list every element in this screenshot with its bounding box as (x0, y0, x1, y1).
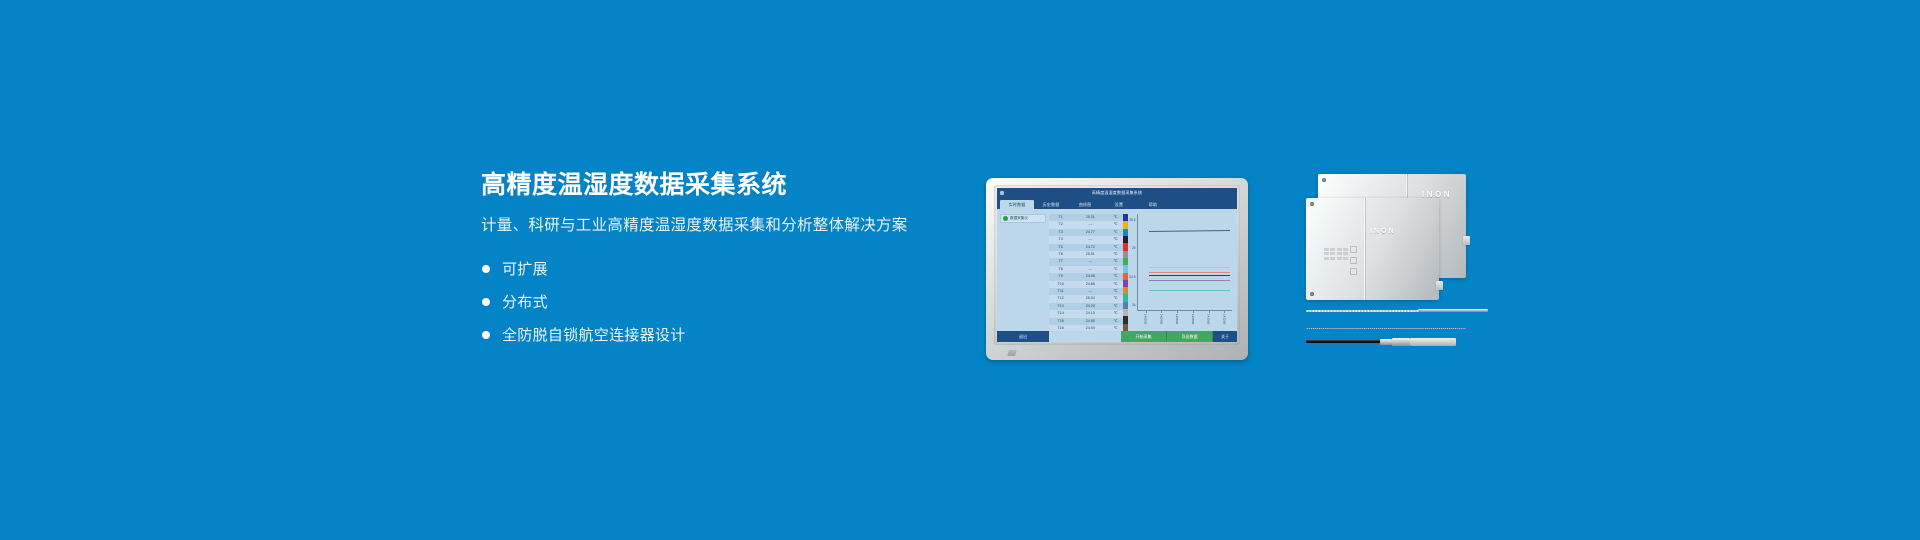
cell-unit: ℃ (1108, 310, 1123, 317)
cell-channel: T7 (1049, 258, 1072, 265)
cell-channel: T5 (1049, 244, 1072, 251)
feature-list: 可扩展 分布式 全防脱自锁航空连接器设计 (481, 254, 951, 349)
table-row[interactable]: T11---℃ (1049, 288, 1123, 295)
table-row[interactable]: T1225.04℃ (1049, 295, 1123, 302)
table-row[interactable]: T125.31℃ (1049, 214, 1123, 221)
cell-channel: T14 (1049, 310, 1072, 317)
table-row[interactable]: T524.72℃ (1049, 244, 1123, 251)
chart-y-tick-label: 24.5 (1129, 275, 1135, 279)
chart-series-line (1149, 275, 1230, 276)
chart-series-line (1149, 267, 1230, 268)
cell-channel: T11 (1049, 288, 1072, 295)
tab-help[interactable]: 帮助 (1136, 200, 1170, 209)
chart-plot-area (1138, 214, 1232, 311)
monitor-inner-bezel: 高精度温湿度数据采集系统 实时数据 历史数据 曲线图 设置 帮助 (994, 185, 1240, 345)
cell-unit: ℃ (1108, 244, 1123, 251)
cell-value: --- (1072, 266, 1108, 273)
channel-data-table: T125.31℃T2---℃T324.77℃T4---℃T524.72℃T625… (1049, 214, 1123, 333)
cell-unit: ℃ (1108, 281, 1123, 288)
feature-label: 全防脱自锁航空连接器设计 (502, 324, 686, 345)
cell-value: 24.88 (1072, 281, 1108, 288)
cell-channel: T1 (1049, 214, 1072, 221)
start-acquisition-button[interactable]: 开始采集 (1121, 331, 1167, 342)
cell-value: --- (1072, 258, 1108, 265)
table-row[interactable]: T2---℃ (1049, 221, 1123, 228)
cell-value: --- (1072, 288, 1108, 295)
cell-channel: T12 (1049, 295, 1072, 302)
chart-series-line (1149, 230, 1230, 232)
cell-channel: T2 (1049, 221, 1072, 228)
table-row[interactable]: T324.77℃ (1049, 229, 1123, 236)
cell-value: --- (1072, 236, 1108, 243)
chart-x-tick-label: 14:06:00 (1175, 314, 1179, 324)
chart-x-tick (1177, 311, 1178, 313)
connector-port-column (1350, 246, 1357, 275)
page-title: 高精度温湿度数据采集系统 (481, 172, 951, 200)
cell-value: 25.01 (1072, 251, 1108, 258)
table-row[interactable]: T625.01℃ (1049, 251, 1123, 258)
table-row[interactable]: T7---℃ (1049, 258, 1123, 265)
chart-y-axis: 25.52524.524 (1128, 214, 1138, 311)
page-subtitle: 计量、科研与工业高精度温湿度数据采集和分析整体解决方案 (481, 217, 951, 236)
screw-icon (1310, 292, 1314, 296)
cell-unit: ℃ (1108, 221, 1123, 228)
cell-channel: T6 (1049, 251, 1072, 258)
bullet-dot-icon (482, 265, 490, 273)
cell-unit: ℃ (1108, 266, 1123, 273)
footer-spacer (1049, 331, 1121, 342)
export-data-button[interactable]: 导出数据 (1167, 331, 1213, 342)
cell-value: 25.04 (1072, 295, 1108, 302)
status-online-icon (1003, 216, 1008, 221)
table-row[interactable]: T8---℃ (1049, 266, 1123, 273)
about-button[interactable]: 关于 (1213, 331, 1237, 342)
black-cable-sintered-probe (1306, 336, 1492, 348)
cell-unit: ℃ (1108, 251, 1123, 258)
chart-x-tick (1209, 311, 1210, 313)
tab-realtime-data[interactable]: 实时数据 (1000, 200, 1034, 209)
app-tab-bar: 实时数据 历史数据 曲线图 设置 帮助 (997, 198, 1237, 209)
banner-text-block: 高精度温湿度数据采集系统 计量、科研与工业高精度温湿度数据采集和分析整体解决方案… (481, 172, 951, 353)
product-banner: 高精度温湿度数据采集系统 计量、科研与工业高精度温湿度数据采集和分析整体解决方案… (0, 0, 1920, 540)
cell-value: 24.90 (1072, 318, 1108, 325)
cell-value: 25.31 (1072, 214, 1108, 221)
cell-channel: T13 (1049, 303, 1072, 310)
tab-history-data[interactable]: 历史数据 (1034, 200, 1068, 209)
chart-y-tick-label: 25.5 (1129, 218, 1135, 222)
chart-x-tick (1193, 311, 1194, 313)
feature-label: 可扩展 (502, 258, 548, 279)
chart-series-line (1149, 280, 1230, 281)
panel-pc-monitor: 高精度温湿度数据采集系统 实时数据 历史数据 曲线图 设置 帮助 (986, 178, 1248, 360)
terminal-label-grid (1324, 248, 1348, 260)
cell-channel: T8 (1049, 266, 1072, 273)
cell-value: 24.98 (1072, 273, 1108, 280)
cell-value: 24.72 (1072, 244, 1108, 251)
chart-x-tick (1146, 311, 1147, 313)
cell-unit: ℃ (1108, 303, 1123, 310)
cable-gland-icon (1436, 281, 1443, 290)
table-row[interactable]: T1024.88℃ (1049, 281, 1123, 288)
feature-label: 分布式 (502, 291, 548, 312)
device-node-label: 数据采集仪 (1010, 216, 1028, 221)
list-item: 全防脱自锁航空连接器设计 (481, 320, 951, 349)
chart-x-tick-label: 14:04:00 (1159, 314, 1163, 324)
device-tree-node[interactable]: 数据采集仪 (1000, 214, 1046, 223)
cell-unit: ℃ (1108, 288, 1123, 295)
cell-unit: ℃ (1108, 273, 1123, 280)
table-row[interactable]: T924.98℃ (1049, 273, 1123, 280)
cell-unit: ℃ (1108, 214, 1123, 221)
trend-chart: 25.52524.524 14:02:0014:04:0014:06:0014:… (1128, 209, 1237, 331)
screw-icon (1322, 178, 1326, 182)
cell-unit: ℃ (1108, 229, 1123, 236)
bullet-dot-icon (482, 298, 490, 306)
app-footer-bar: 退出 开始采集 导出数据 关于 (997, 331, 1237, 342)
chart-series-line (1149, 290, 1230, 291)
cell-channel: T4 (1049, 236, 1072, 243)
blue-cable-probe (1306, 326, 1492, 331)
app-title: 高精度温湿度数据采集系统 (997, 188, 1237, 198)
screw-icon (1310, 202, 1314, 206)
chart-x-tick-label: 14:10:00 (1207, 314, 1211, 324)
list-item: 可扩展 (481, 254, 951, 283)
chart-x-tick-label: 14:12:00 (1222, 314, 1226, 324)
cell-channel: T15 (1049, 318, 1072, 325)
tab-curve-chart[interactable]: 曲线图 (1068, 200, 1102, 209)
tab-settings[interactable]: 设置 (1102, 200, 1136, 209)
monitor-screen: 高精度温湿度数据采集系统 实时数据 历史数据 曲线图 设置 帮助 (997, 188, 1237, 342)
chart-series-line (1149, 272, 1230, 273)
cable-gland-icon (1463, 236, 1470, 245)
cell-channel: T9 (1049, 273, 1072, 280)
braided-stainless-probe (1306, 308, 1492, 314)
table-row[interactable]: T4---℃ (1049, 236, 1123, 243)
channel-table-body: T125.31℃T2---℃T324.77℃T4---℃T524.72℃T625… (1049, 214, 1123, 333)
chart-x-tick (1161, 311, 1162, 313)
hardware-group: INON INON (1306, 170, 1492, 360)
chart-y-tick-label: 25 (1132, 246, 1136, 250)
list-item: 分布式 (481, 287, 951, 316)
monitor-bezel: 高精度温湿度数据采集系统 实时数据 历史数据 曲线图 设置 帮助 (986, 178, 1248, 360)
monitor-stand-foot (1007, 350, 1016, 356)
cell-channel: T3 (1049, 229, 1072, 236)
app-body: 数据采集仪 T125.31℃T2---℃T324.77℃T4---℃T524.7… (997, 209, 1237, 331)
cell-value: 24.15 (1072, 310, 1108, 317)
cell-unit: ℃ (1108, 236, 1123, 243)
cell-unit: ℃ (1108, 258, 1123, 265)
channel-table-wrap: T125.31℃T2---℃T324.77℃T4---℃T524.72℃T625… (1049, 209, 1123, 331)
chart-x-tick-label: 14:08:00 (1191, 314, 1195, 324)
bullet-dot-icon (482, 331, 490, 339)
cell-unit: ℃ (1108, 318, 1123, 325)
table-row[interactable]: T1424.15℃ (1049, 310, 1123, 317)
brand-logo-front: INON (1370, 228, 1396, 235)
chart-x-tick-label: 14:02:00 (1144, 314, 1148, 324)
table-row[interactable]: T1324.29℃ (1049, 303, 1123, 310)
cell-channel: T10 (1049, 281, 1072, 288)
chart-y-tick-label: 24 (1132, 303, 1136, 307)
cell-unit: ℃ (1108, 295, 1123, 302)
cell-value: --- (1072, 221, 1108, 228)
chart-x-tick (1224, 311, 1225, 313)
table-row[interactable]: T1524.90℃ (1049, 318, 1123, 325)
cell-value: 24.77 (1072, 229, 1108, 236)
cell-value: 24.29 (1072, 303, 1108, 310)
device-tree-panel: 数据采集仪 (997, 209, 1049, 331)
exit-button[interactable]: 退出 (997, 331, 1049, 342)
app-titlebar: 高精度温湿度数据采集系统 (997, 188, 1237, 198)
data-logger-enclosure-front: INON (1306, 198, 1439, 300)
